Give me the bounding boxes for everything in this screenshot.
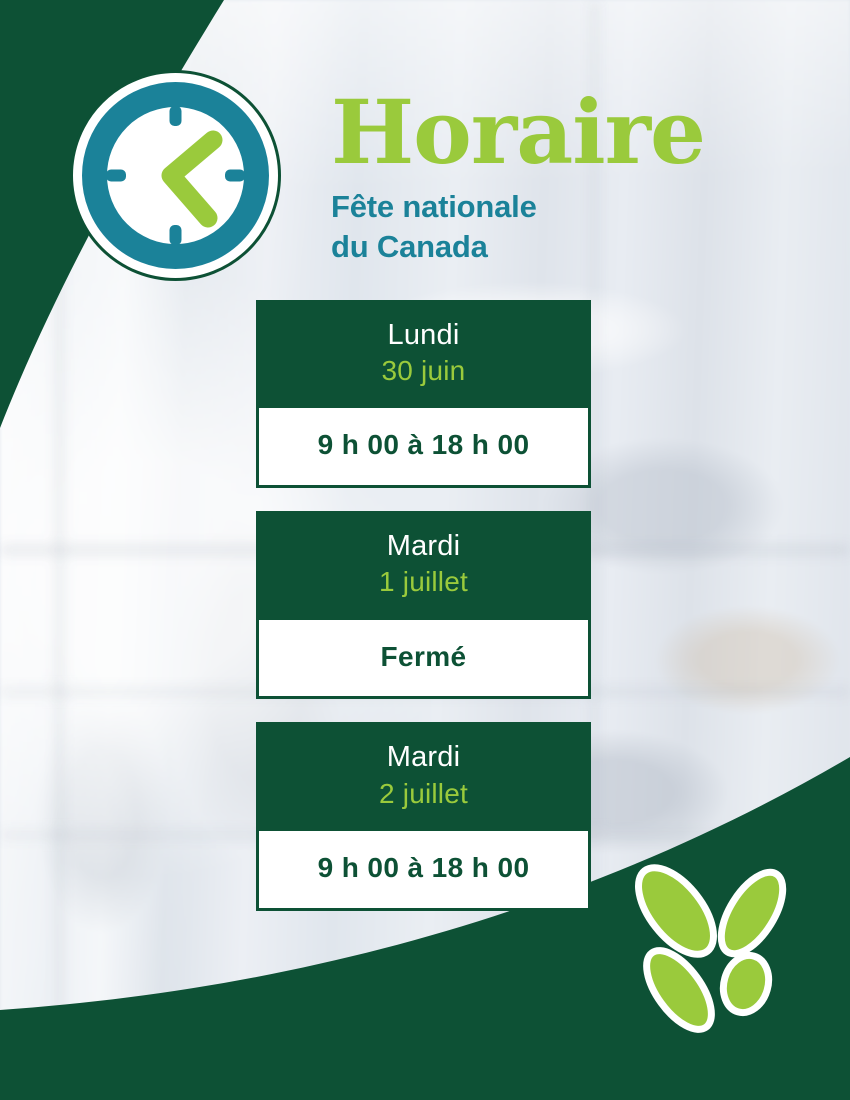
schedule-card-body: Fermé [256, 620, 591, 700]
schedule-date: 1 juillet [266, 565, 581, 599]
schedule-card: Lundi 30 juin 9 h 00 à 18 h 00 [256, 300, 591, 488]
schedule-card-header: Mardi 2 juillet [256, 722, 591, 830]
page-title: Horaire [331, 92, 751, 173]
subtitle-line-1: Fête nationale [331, 187, 751, 227]
schedule-day: Lundi [266, 318, 581, 352]
schedule-card: Mardi 1 juillet Fermé [256, 511, 591, 699]
poster-header: Horaire Fête nationale du Canada [331, 92, 751, 268]
schedule-hours: Fermé [269, 642, 578, 673]
schedule-card: Mardi 2 juillet 9 h 00 à 18 h 00 [256, 722, 591, 910]
schedule-poster: Horaire Fête nationale du Canada Lundi 3… [0, 0, 850, 1100]
schedule-card-body: 9 h 00 à 18 h 00 [256, 831, 591, 911]
schedule-card-header: Lundi 30 juin [256, 300, 591, 408]
schedule-day: Mardi [266, 740, 581, 774]
schedule-hours: 9 h 00 à 18 h 00 [269, 853, 578, 884]
page-subtitle: Fête nationale du Canada [331, 187, 751, 268]
schedule-hours: 9 h 00 à 18 h 00 [269, 430, 578, 461]
schedule-date: 2 juillet [266, 777, 581, 811]
butterfly-flower-icon [618, 853, 813, 1048]
clock-icon [68, 68, 283, 283]
schedule-list: Lundi 30 juin 9 h 00 à 18 h 00 Mardi 1 j… [256, 300, 591, 911]
schedule-card-body: 9 h 00 à 18 h 00 [256, 408, 591, 488]
schedule-date: 30 juin [266, 354, 581, 388]
schedule-card-header: Mardi 1 juillet [256, 511, 591, 619]
subtitle-line-2: du Canada [331, 227, 751, 267]
schedule-day: Mardi [266, 529, 581, 563]
